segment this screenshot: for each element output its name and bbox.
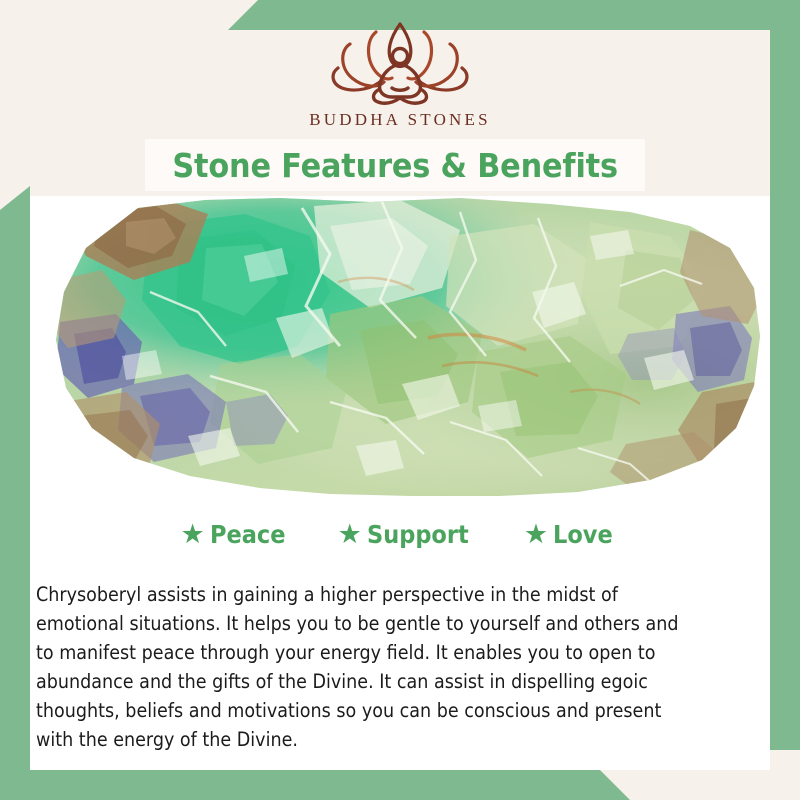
star-icon: ★ — [338, 521, 362, 548]
frame-bottom-bar — [0, 770, 630, 800]
benefit-label-love: Love — [553, 520, 613, 549]
lotus-meditation-figure-icon — [320, 18, 480, 106]
stone-features-infographic: BUDDHA STONES Stone Features & Benefits — [0, 0, 800, 800]
benefits-row: ★ Peace ★ Support ★ Love — [30, 512, 770, 556]
frame-left-bar — [0, 186, 30, 800]
benefit-label-peace: Peace — [210, 520, 286, 549]
brand-logo: BUDDHA STONES — [0, 18, 800, 130]
brand-name: BUDDHA STONES — [309, 110, 491, 130]
star-icon: ★ — [524, 521, 548, 548]
stone-photo: Chrysoberyl（Cat's Eye） — [30, 196, 770, 496]
title-band: Stone Features & Benefits — [145, 139, 645, 191]
stone-description: Chrysoberyl assists in gaining a higher … — [36, 580, 691, 754]
benefit-item-support: ★ Support — [338, 520, 480, 549]
benefit-item-love: ★ Love — [524, 520, 620, 549]
benefit-label-support: Support — [367, 520, 469, 549]
benefit-item-peace: ★ Peace — [180, 520, 293, 549]
page-title: Stone Features & Benefits — [172, 146, 618, 185]
star-icon: ★ — [180, 521, 204, 548]
rough-green-fluorite-stone-image — [30, 196, 770, 496]
header: BUDDHA STONES Stone Features & Benefits — [0, 0, 800, 196]
